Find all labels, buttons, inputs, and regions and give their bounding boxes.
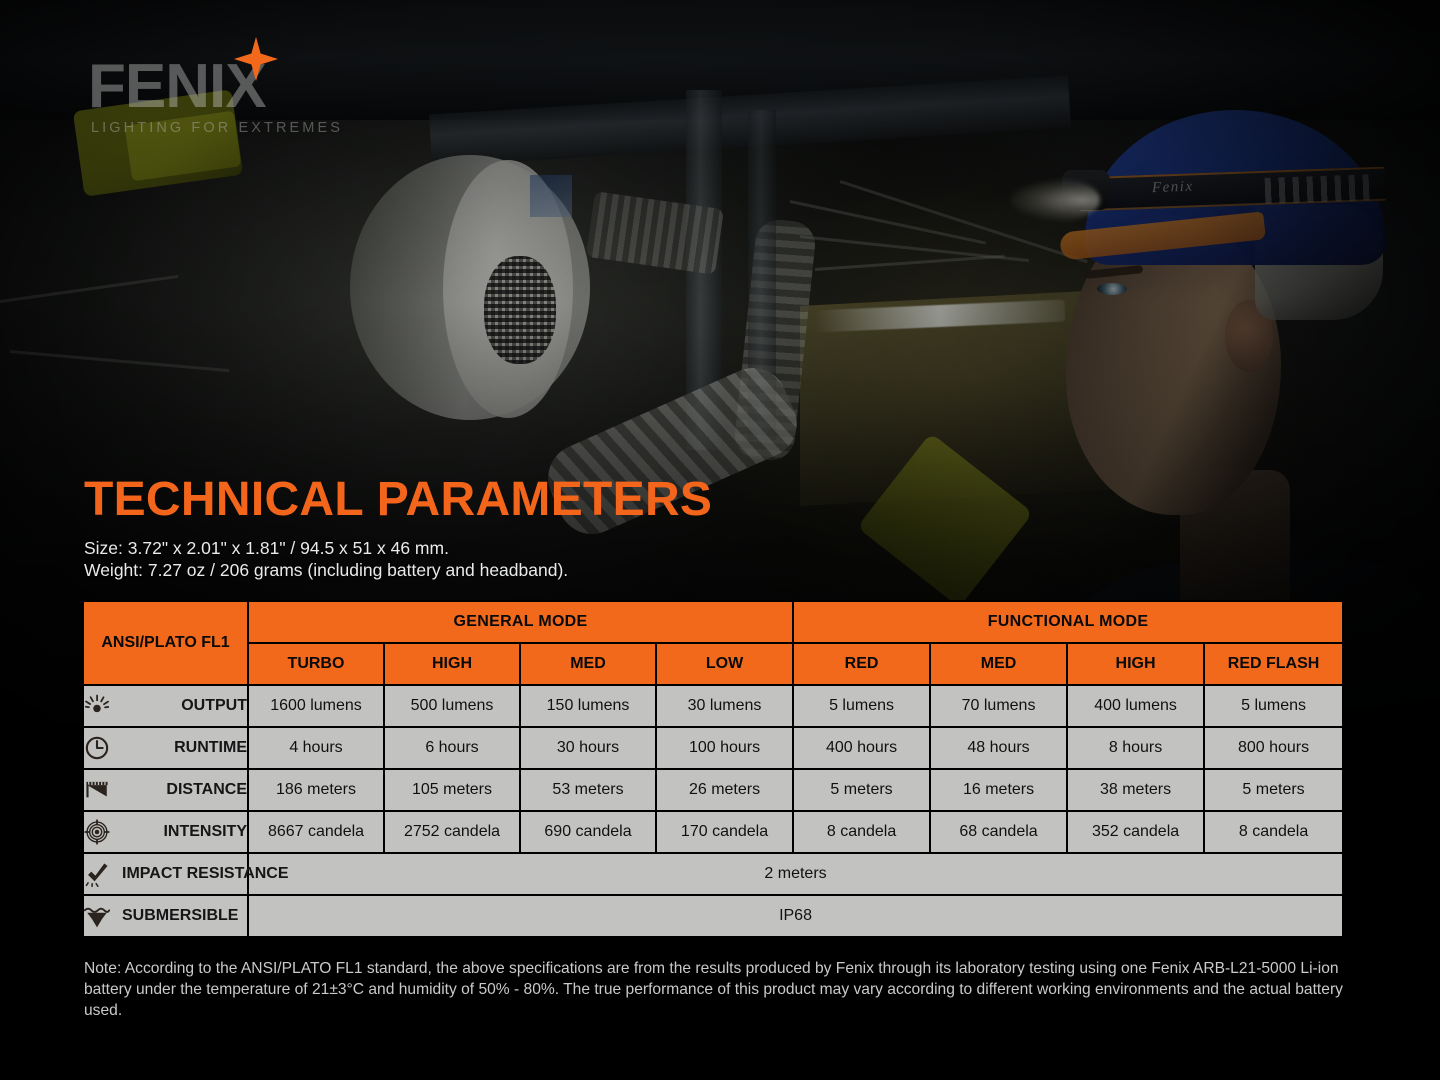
cell-intensity-med: 690 candela	[520, 811, 656, 853]
cell-runtime-red: 400 hours	[793, 727, 930, 769]
table-row-impact-resistance: IMPACT RESISTANCE 2 meters	[83, 853, 1343, 895]
cell-distance-med-functional: 16 meters	[930, 769, 1067, 811]
table-row-intensity: INTENSITY 8667 candela 2752 candela 690 …	[83, 811, 1343, 853]
row-label-text: DISTANCE	[118, 781, 247, 799]
cell-output-med: 150 lumens	[520, 685, 656, 727]
cell-runtime-med-functional: 48 hours	[930, 727, 1067, 769]
weight-line: Weight: 7.27 oz / 206 grams (including b…	[84, 559, 568, 581]
sunburst-icon	[84, 693, 110, 719]
cell-intensity-red: 8 candela	[793, 811, 930, 853]
logo-wordmark: FENIX	[88, 58, 343, 117]
beam-distance-icon	[84, 777, 110, 803]
row-label-text: RUNTIME	[118, 739, 247, 757]
cell-intensity-red-flash: 8 candela	[1204, 811, 1343, 853]
cell-intensity-low: 170 candela	[656, 811, 793, 853]
row-label-output: OUTPUT	[83, 685, 248, 727]
size-weight-block: Size: 3.72" x 2.01" x 1.81" / 94.5 x 51 …	[84, 537, 568, 581]
cell-submersible-value: IP68	[248, 895, 1343, 937]
row-label-distance: DISTANCE	[83, 769, 248, 811]
row-label-text: SUBMERSIBLE	[118, 907, 247, 925]
table-row-distance: DISTANCE 186 meters 105 meters 53 meters…	[83, 769, 1343, 811]
row-label-intensity: INTENSITY	[83, 811, 248, 853]
table-row-runtime: RUNTIME 4 hours 6 hours 30 hours 100 hou…	[83, 727, 1343, 769]
row-label-submersible: SUBMERSIBLE	[83, 895, 248, 937]
cell-distance-high-functional: 38 meters	[1067, 769, 1204, 811]
cell-output-low: 30 lumens	[656, 685, 793, 727]
size-line: Size: 3.72" x 2.01" x 1.81" / 94.5 x 51 …	[84, 537, 568, 559]
row-label-impact-resistance: IMPACT RESISTANCE	[83, 853, 248, 895]
table-row-output: OUTPUT 1600 lumens 500 lumens 150 lumens…	[83, 685, 1343, 727]
table-group-header-row: ANSI/PLATO FL1 GENERAL MODE FUNCTIONAL M…	[83, 601, 1343, 643]
row-label-runtime: RUNTIME	[83, 727, 248, 769]
header-mode-red: RED	[793, 643, 930, 685]
logo-tagline: LIGHTING FOR EXTREMES	[88, 120, 343, 136]
cell-output-med-functional: 70 lumens	[930, 685, 1067, 727]
header-mode-high: HIGH	[384, 643, 520, 685]
footnote: Note: According to the ANSI/PLATO FL1 st…	[84, 958, 1352, 1021]
impact-drop-icon	[84, 861, 110, 887]
cell-runtime-turbo: 4 hours	[248, 727, 384, 769]
cell-runtime-high-functional: 8 hours	[1067, 727, 1204, 769]
cell-distance-red: 5 meters	[793, 769, 930, 811]
header-group-functional-mode: FUNCTIONAL MODE	[793, 601, 1343, 643]
poster-page: Fenix FENIX LIGHTING FOR EXTREMES TECHNI…	[0, 0, 1440, 1080]
cell-output-high: 500 lumens	[384, 685, 520, 727]
cell-runtime-med: 30 hours	[520, 727, 656, 769]
cell-distance-red-flash: 5 meters	[1204, 769, 1343, 811]
header-mode-med: MED	[520, 643, 656, 685]
row-label-text: INTENSITY	[118, 823, 247, 841]
cell-output-red: 5 lumens	[793, 685, 930, 727]
header-mode-turbo: TURBO	[248, 643, 384, 685]
cell-output-red-flash: 5 lumens	[1204, 685, 1343, 727]
specifications-table: ANSI/PLATO FL1 GENERAL MODE FUNCTIONAL M…	[82, 600, 1344, 938]
row-label-text: OUTPUT	[118, 697, 247, 715]
cell-distance-low: 26 meters	[656, 769, 793, 811]
cell-distance-med: 53 meters	[520, 769, 656, 811]
clock-icon	[84, 735, 110, 761]
header-mode-med-functional: MED	[930, 643, 1067, 685]
header-mode-red-flash: RED FLASH	[1204, 643, 1343, 685]
submersible-wave-icon	[84, 903, 110, 929]
cell-intensity-turbo: 8667 candela	[248, 811, 384, 853]
cell-runtime-high: 6 hours	[384, 727, 520, 769]
header-mode-high-functional: HIGH	[1067, 643, 1204, 685]
table-mode-header-row: TURBO HIGH MED LOW RED MED HIGH RED FLAS…	[83, 643, 1343, 685]
cell-output-turbo: 1600 lumens	[248, 685, 384, 727]
cell-intensity-high-functional: 352 candela	[1067, 811, 1204, 853]
fenix-logo: FENIX LIGHTING FOR EXTREMES	[88, 58, 343, 136]
cell-intensity-high: 2752 candela	[384, 811, 520, 853]
target-intensity-icon	[84, 819, 110, 845]
cell-runtime-red-flash: 800 hours	[1204, 727, 1343, 769]
cell-impact-resistance-value: 2 meters	[248, 853, 1343, 895]
cell-runtime-low: 100 hours	[656, 727, 793, 769]
table-row-submersible: SUBMERSIBLE IP68	[83, 895, 1343, 937]
cell-intensity-med-functional: 68 candela	[930, 811, 1067, 853]
page-title: TECHNICAL PARAMETERS	[84, 472, 712, 527]
cell-distance-high: 105 meters	[384, 769, 520, 811]
header-mode-low: LOW	[656, 643, 793, 685]
header-group-general-mode: GENERAL MODE	[248, 601, 793, 643]
cell-output-high-functional: 400 lumens	[1067, 685, 1204, 727]
header-ansi-plato-fl1: ANSI/PLATO FL1	[83, 601, 248, 685]
row-label-text: IMPACT RESISTANCE	[118, 865, 289, 883]
cell-distance-turbo: 186 meters	[248, 769, 384, 811]
